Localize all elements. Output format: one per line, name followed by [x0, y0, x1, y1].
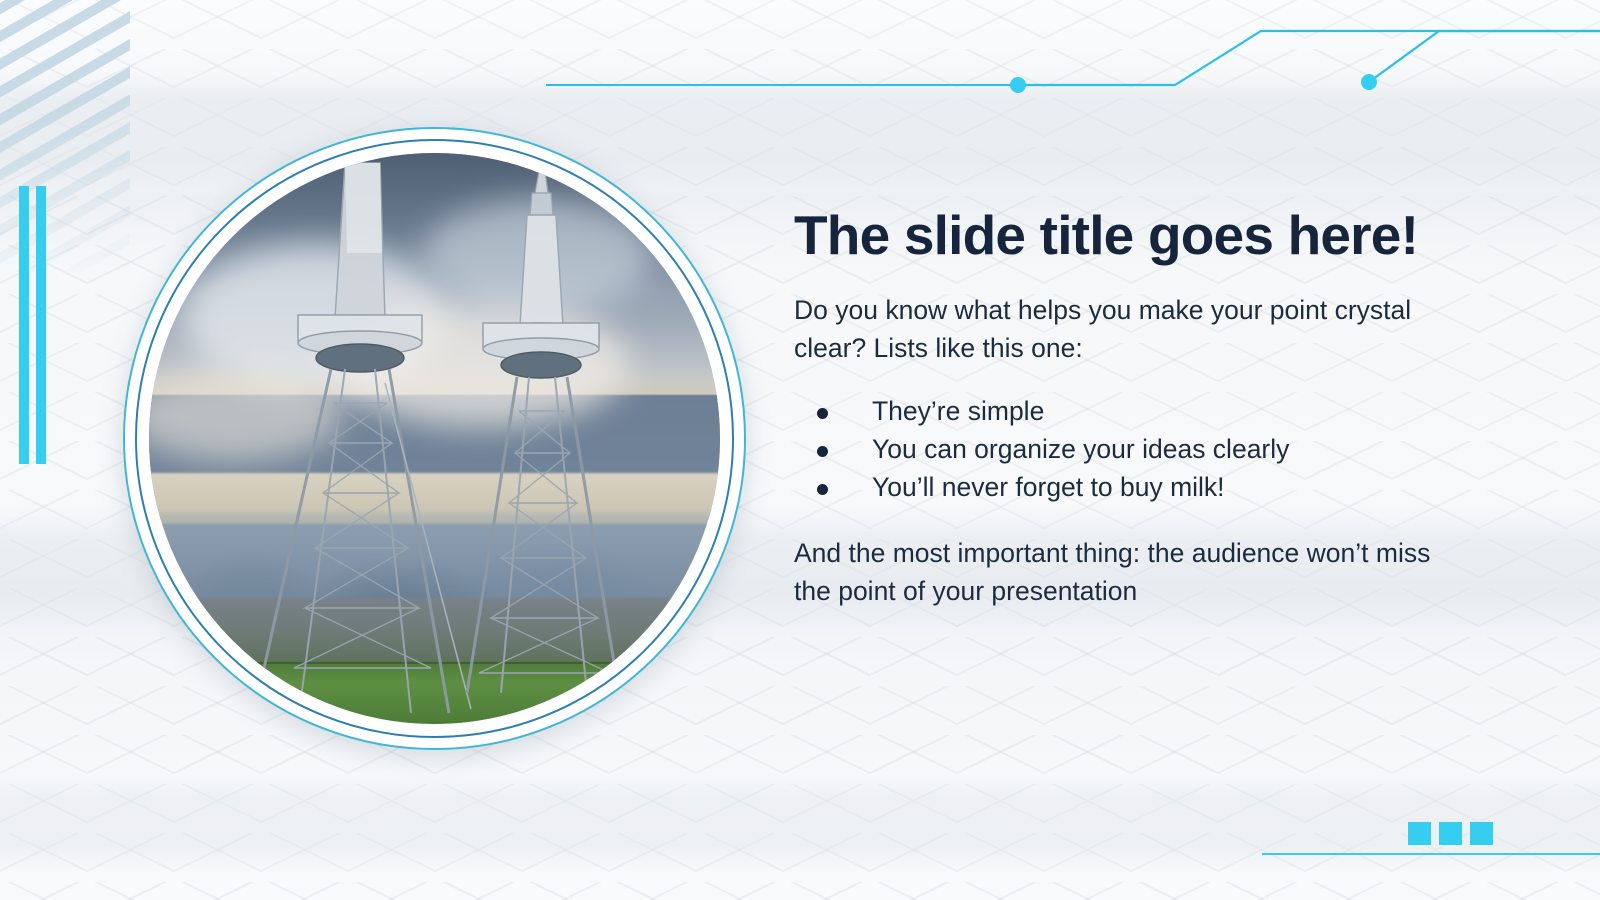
closing-paragraph: And the most important thing: the audien… — [794, 535, 1434, 610]
accent-square-1 — [1408, 822, 1431, 845]
bottom-accent-line — [1262, 853, 1600, 855]
accent-square-3 — [1470, 822, 1493, 845]
circuit-node-right-icon — [1361, 74, 1377, 90]
list-item: You can organize your ideas clearly — [794, 431, 1434, 467]
circuit-trace-right — [1369, 31, 1600, 82]
vertical-accent-bars — [19, 186, 51, 464]
circular-photo-frame — [123, 127, 746, 750]
slide-title: The slide title goes here! — [794, 196, 1434, 274]
accent-bar-1 — [19, 186, 29, 464]
list-item: You’ll never forget to buy milk! — [794, 469, 1434, 505]
accent-square-2 — [1439, 822, 1462, 845]
broadcast-towers-icon — [149, 153, 720, 724]
accent-bar-2 — [36, 186, 46, 464]
list-item: They’re simple — [794, 393, 1434, 429]
bullet-list: They’re simple You can organize your ide… — [794, 393, 1434, 505]
slide-text-column: The slide title goes here! Do you know w… — [794, 196, 1434, 611]
intro-paragraph: Do you know what helps you make your poi… — [794, 292, 1434, 367]
tower-photo — [149, 153, 720, 724]
circuit-trace-left — [1018, 31, 1600, 85]
slide-canvas: The slide title goes here! Do you know w… — [0, 0, 1600, 900]
accent-squares-group — [1408, 822, 1493, 845]
circuit-node-left-icon — [1010, 77, 1026, 93]
